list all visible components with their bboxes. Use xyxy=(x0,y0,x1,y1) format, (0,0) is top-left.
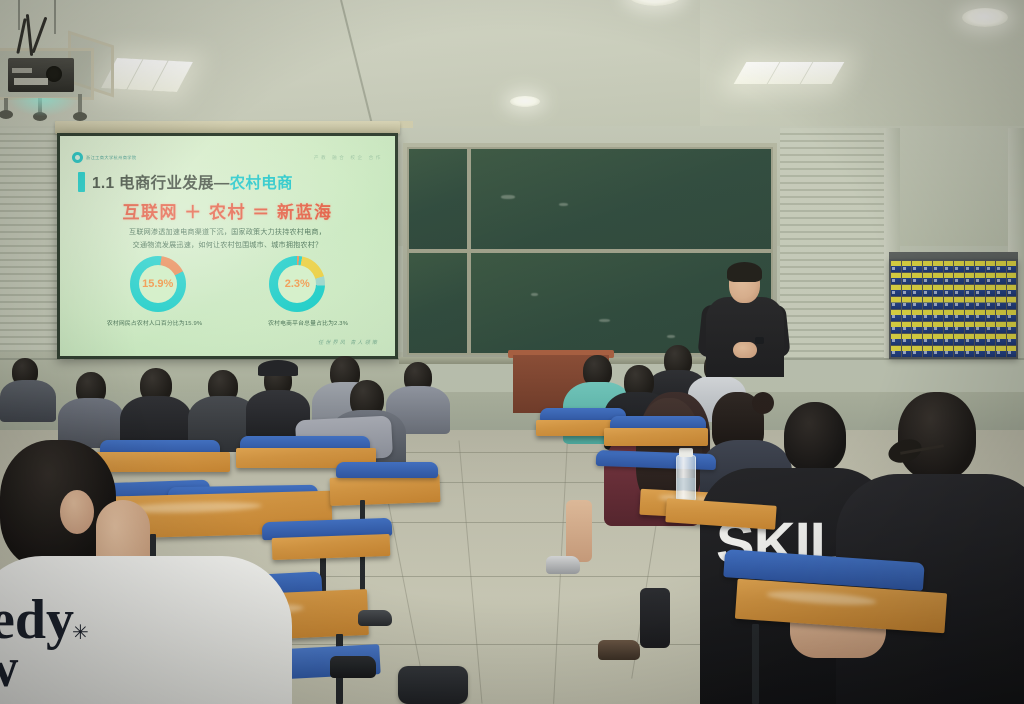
phone-pocket[interactable] xyxy=(1007,273,1017,284)
ceiling-projector xyxy=(0,22,112,126)
phone-pocket[interactable] xyxy=(1007,261,1017,272)
light-shaft xyxy=(700,0,1000,130)
phone-pocket[interactable] xyxy=(975,334,985,345)
phone-pocket[interactable] xyxy=(944,310,954,321)
slide-content: 浙江工商大学杭州商学院 产教 融合 校企 合作 1.1 电商行业发展—农村电商 … xyxy=(60,136,395,356)
ceiling-rail xyxy=(340,0,372,122)
donut-caption-2: 农村电商平台总量占比为2.3% xyxy=(268,318,348,327)
phone-pocket[interactable] xyxy=(944,322,954,333)
phone-pocket[interactable] xyxy=(902,322,912,333)
donut-ring-2: 2.3% xyxy=(269,256,325,312)
student-head xyxy=(898,392,976,480)
donut-chart-1: 15.9% xyxy=(130,256,186,312)
phone-pocket[interactable] xyxy=(975,261,985,272)
phone-pocket[interactable] xyxy=(996,310,1006,321)
title-accent-text: 农村电商 xyxy=(230,175,293,192)
phone-pocket-board xyxy=(889,259,1018,359)
phone-pocket[interactable] xyxy=(912,297,922,308)
phone-pocket[interactable] xyxy=(933,297,943,308)
slide-body-text: 互联网渗透加速电商渠道下沉，国家政策大力扶持农村电商， 交通物流发展迅速，如何让… xyxy=(88,226,367,252)
phone-pocket[interactable] xyxy=(1007,334,1017,345)
slide-title: 1.1 电商行业发展—农村电商 xyxy=(78,171,293,193)
student-head xyxy=(784,402,846,472)
phone-pocket[interactable] xyxy=(996,285,1006,296)
shoe xyxy=(358,610,392,626)
slide-subtitle: 互联网 ＋ 农村 ＝ 新蓝海 xyxy=(60,198,395,223)
presenter-torso xyxy=(706,297,784,377)
phone-pocket[interactable] xyxy=(944,297,954,308)
phone-pocket[interactable] xyxy=(1007,285,1017,296)
phone-pocket[interactable] xyxy=(986,322,996,333)
phone-pocket[interactable] xyxy=(891,310,901,321)
phone-pocket[interactable] xyxy=(944,334,954,345)
wrist-watch-icon xyxy=(755,337,764,344)
donut-value-1: 15.9% xyxy=(142,278,173,290)
desk-top xyxy=(272,534,391,560)
title-prefix: 1.1 电商行业发展— xyxy=(92,175,230,192)
phone-pocket[interactable] xyxy=(912,261,922,272)
classroom-scene: 浙江工商大学杭州商学院 产教 融合 校企 合作 1.1 电商行业发展—农村电商 … xyxy=(0,0,1024,704)
phone-pocket[interactable] xyxy=(965,310,975,321)
slide-logo-text: 浙江工商大学杭州商学院 xyxy=(86,155,136,161)
phone-pocket[interactable] xyxy=(975,310,985,321)
phone-pocket[interactable] xyxy=(933,334,943,345)
phone-pocket[interactable] xyxy=(912,285,922,296)
phone-pocket[interactable] xyxy=(912,334,922,345)
desk-top xyxy=(330,474,441,506)
phone-pocket[interactable] xyxy=(891,322,901,333)
university-logo-icon xyxy=(72,152,83,163)
ear xyxy=(60,490,94,534)
phone-pocket[interactable] xyxy=(891,346,901,357)
phone-pocket[interactable] xyxy=(944,285,954,296)
phone-pocket[interactable] xyxy=(933,261,943,272)
phone-pocket[interactable] xyxy=(923,297,933,308)
phone-pocket[interactable] xyxy=(975,346,985,357)
slide-title-text: 1.1 电商行业发展—农村电商 xyxy=(92,171,293,193)
phone-pocket[interactable] xyxy=(965,297,975,308)
projector-lens-icon xyxy=(46,66,62,82)
phone-pocket[interactable] xyxy=(954,334,964,345)
phone-pocket[interactable] xyxy=(996,346,1006,357)
phone-pocket[interactable] xyxy=(986,297,996,308)
desk-top xyxy=(604,428,708,446)
presenter-hair xyxy=(727,262,762,282)
tshirt-text-line-2: w xyxy=(0,636,18,700)
phone-pocket[interactable] xyxy=(923,334,933,345)
slide-logo: 浙江工商大学杭州商学院 xyxy=(72,152,136,163)
phone-pocket[interactable] xyxy=(912,346,922,357)
phone-pocket[interactable] xyxy=(965,334,975,345)
student-leg xyxy=(566,500,592,562)
chair-back xyxy=(336,462,438,478)
projection-screen: 浙江工商大学杭州商学院 产教 融合 校企 合作 1.1 电商行业发展—农村电商 … xyxy=(57,133,398,359)
phone-pocket[interactable] xyxy=(944,261,954,272)
phone-pocket[interactable] xyxy=(902,285,912,296)
slide-body-line-2: 交通物流发展迅速，如何让农村包围城市、城市拥抱农村？ xyxy=(88,239,367,252)
phone-pocket[interactable] xyxy=(986,334,996,345)
blackboard-pane xyxy=(469,147,773,251)
asterisk-icon: ✳ xyxy=(72,620,89,645)
phone-pocket[interactable] xyxy=(891,273,901,284)
phone-pocket[interactable] xyxy=(965,261,975,272)
phone-pocket[interactable] xyxy=(933,310,943,321)
phone-pocket[interactable] xyxy=(965,322,975,333)
phone-pocket[interactable] xyxy=(902,310,912,321)
phone-pocket[interactable] xyxy=(996,261,1006,272)
phone-pocket[interactable] xyxy=(954,310,964,321)
phone-pocket[interactable] xyxy=(1007,346,1017,357)
phone-pocket[interactable] xyxy=(923,310,933,321)
phone-pocket[interactable] xyxy=(996,297,1006,308)
phone-pocket[interactable] xyxy=(954,273,964,284)
phone-pocket[interactable] xyxy=(986,285,996,296)
donut-ring-1: 15.9% xyxy=(130,256,186,312)
phone-pocket[interactable] xyxy=(954,261,964,272)
wall-panel-ribbed xyxy=(0,128,60,360)
phone-pocket[interactable] xyxy=(891,334,901,345)
phone-pocket[interactable] xyxy=(965,273,975,284)
backpack-floor xyxy=(398,666,468,704)
donut-caption-1: 农村网民占农村人口百分比为15.9% xyxy=(107,318,202,327)
donut-value-2: 2.3% xyxy=(285,278,310,290)
phone-pocket[interactable] xyxy=(1007,297,1017,308)
presenter-hands xyxy=(733,342,757,358)
phone-pocket[interactable] xyxy=(1007,310,1017,321)
phone-pocket[interactable] xyxy=(986,261,996,272)
phone-pocket[interactable] xyxy=(933,322,943,333)
phone-pocket[interactable] xyxy=(975,297,985,308)
phone-pocket[interactable] xyxy=(902,273,912,284)
phone-pocket[interactable] xyxy=(933,346,943,357)
phone-pocket[interactable] xyxy=(923,322,933,333)
round-downlight-icon xyxy=(628,0,682,6)
slide-chart-captions: 农村网民占农村人口百分比为15.9% 农村电商平台总量占比为2.3% xyxy=(60,318,395,327)
phone-pocket[interactable] xyxy=(933,285,943,296)
phone-pocket[interactable] xyxy=(944,346,954,357)
shoe xyxy=(546,556,580,574)
slide-top-right-text: 产教 融合 校企 合作 xyxy=(314,155,383,161)
phone-pocket[interactable] xyxy=(965,346,975,357)
phone-pocket[interactable] xyxy=(975,273,985,284)
slide-charts: 15.9% 2.3% xyxy=(60,256,395,312)
phone-pocket[interactable] xyxy=(986,310,996,321)
cap-icon xyxy=(258,360,298,376)
round-downlight-icon xyxy=(510,96,540,107)
slide-body-line-1: 互联网渗透加速电商渠道下沉，国家政策大力扶持农村电商， xyxy=(88,226,367,239)
phone-pocket[interactable] xyxy=(975,322,985,333)
donut-chart-2: 2.3% xyxy=(269,256,325,312)
slide-signature: 任世界风 青人领策 xyxy=(318,339,379,346)
phone-pocket[interactable] xyxy=(975,285,985,296)
phone-pocket[interactable] xyxy=(891,285,901,296)
phone-pocket[interactable] xyxy=(891,297,901,308)
phone-pocket[interactable] xyxy=(912,322,922,333)
title-accent-bar xyxy=(78,172,85,192)
phone-pocket[interactable] xyxy=(965,285,975,296)
phone-pocket[interactable] xyxy=(933,273,943,284)
blackboard-pane xyxy=(407,147,469,251)
phone-pocket[interactable] xyxy=(912,310,922,321)
phone-pocket[interactable] xyxy=(954,285,964,296)
phone-pocket[interactable] xyxy=(912,273,922,284)
phone-pocket[interactable] xyxy=(944,273,954,284)
phone-pocket[interactable] xyxy=(902,334,912,345)
phone-pocket[interactable] xyxy=(923,273,933,284)
phone-pocket[interactable] xyxy=(954,346,964,357)
phone-pocket[interactable] xyxy=(923,285,933,296)
phone-pocket[interactable] xyxy=(1007,322,1017,333)
phone-pocket[interactable] xyxy=(986,346,996,357)
student-grey-shirt xyxy=(0,380,56,422)
wall-panel-ribbed xyxy=(780,128,884,360)
phone-pocket[interactable] xyxy=(954,297,964,308)
phone-pocket[interactable] xyxy=(986,273,996,284)
led-panel-light-icon xyxy=(101,58,193,92)
bottle-label xyxy=(677,478,695,490)
phone-pocket[interactable] xyxy=(996,322,1006,333)
phone-pocket[interactable] xyxy=(902,297,912,308)
phone-pocket[interactable] xyxy=(996,334,1006,345)
desk-top xyxy=(96,452,230,472)
phone-pocket[interactable] xyxy=(923,261,933,272)
phone-pocket[interactable] xyxy=(954,322,964,333)
phone-pocket[interactable] xyxy=(923,346,933,357)
shoe xyxy=(598,640,640,660)
phone-pocket[interactable] xyxy=(996,273,1006,284)
student-leg xyxy=(640,588,670,648)
bottle-cap xyxy=(679,448,693,457)
hair-bun xyxy=(752,392,774,414)
shoe xyxy=(330,656,376,678)
blackboard-pane xyxy=(407,251,469,355)
phone-pocket[interactable] xyxy=(902,346,912,357)
phone-pocket[interactable] xyxy=(891,261,901,272)
desk-leg xyxy=(752,624,759,704)
phone-pocket[interactable] xyxy=(902,261,912,272)
